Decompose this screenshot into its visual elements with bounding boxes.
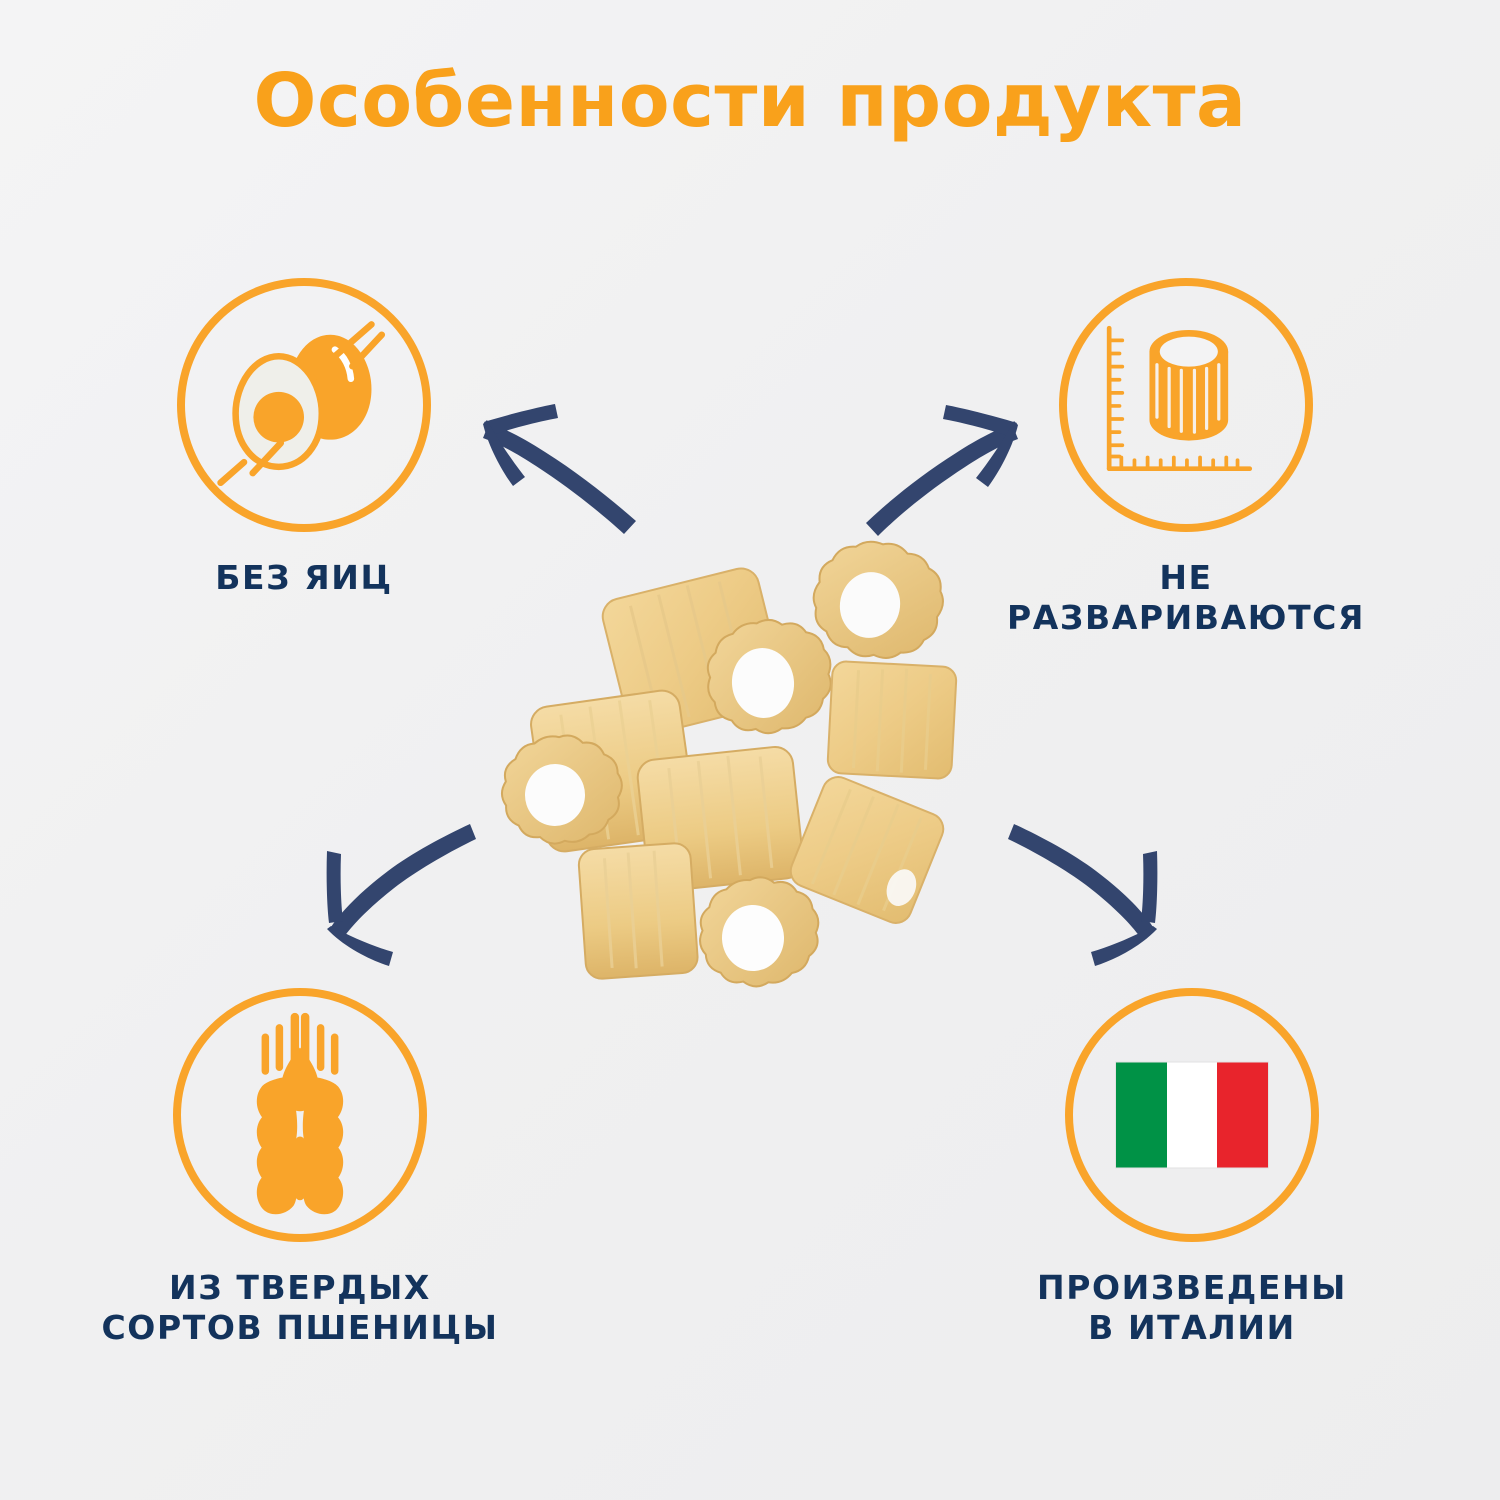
feature-label-no-overcook: НЕ РАЗВАРИВАЮТСЯ [976, 558, 1396, 639]
feature-circle-made-in-italy [1065, 988, 1319, 1242]
flag-stripe-white [1167, 1063, 1218, 1168]
pasta-pieces-photo [470, 470, 1010, 1030]
feature-circle-durum-wheat [173, 988, 427, 1242]
pasta-ring [803, 530, 952, 670]
feature-no-eggs[interactable]: БЕЗ ЯИЦ [94, 278, 514, 598]
feature-circle-no-eggs [177, 278, 431, 532]
feature-durum-wheat[interactable]: ИЗ ТВЕРДЫХ СОРТОВ ПШЕНИЦЫ [90, 988, 510, 1349]
feature-label-durum-wheat: ИЗ ТВЕРДЫХ СОРТОВ ПШЕНИЦЫ [90, 1268, 510, 1349]
wheat-ear-icon [181, 996, 419, 1234]
arrow-to-durum-wheat [327, 824, 476, 966]
feature-no-overcook[interactable]: НЕ РАЗВАРИВАЮТСЯ [976, 278, 1396, 639]
feature-made-in-italy[interactable]: ПРОИЗВЕДЕНЫ В ИТАЛИИ [982, 988, 1402, 1349]
pasta-tube [827, 661, 957, 779]
flag-stripe-green [1116, 1063, 1167, 1168]
arrow-to-made-in-italy [1008, 824, 1157, 966]
italy-flag-icon [1116, 1063, 1268, 1168]
no-eggs-icon [185, 286, 423, 524]
feature-label-made-in-italy: ПРОИЗВЕДЕНЫ В ИТАЛИИ [982, 1268, 1402, 1349]
pasta-tube [578, 842, 699, 979]
page-title: Особенности продукта [0, 58, 1500, 144]
feature-circle-no-overcook [1059, 278, 1313, 532]
flag-stripe-red [1217, 1063, 1268, 1168]
feature-label-no-eggs: БЕЗ ЯИЦ [94, 558, 514, 598]
pasta-ring [697, 874, 822, 989]
pasta-tube-ruler-icon [1067, 286, 1305, 524]
